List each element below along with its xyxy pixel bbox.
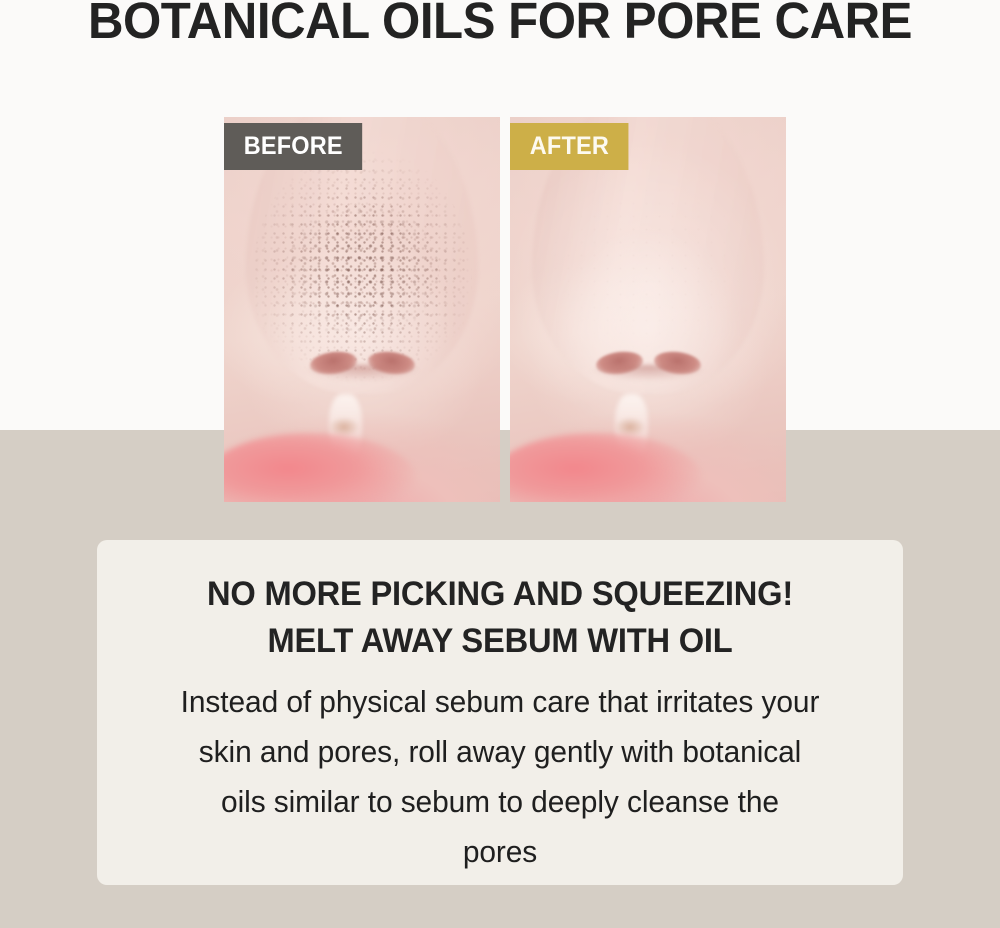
before-photo: BEFORE	[224, 117, 500, 502]
blackhead-texture-before	[285, 202, 440, 341]
before-after-comparison: BEFORE AFTER	[224, 117, 786, 502]
message-card: NO MORE PICKING AND SQUEEZING! MELT AWAY…	[97, 540, 903, 885]
card-body-text: Instead of physical sebum care that irri…	[111, 677, 889, 877]
nose-shadow-before	[301, 365, 422, 380]
nose-shadow-after	[587, 365, 708, 380]
card-headline-line-1: NO MORE PICKING AND SQUEEZING!	[113, 571, 887, 618]
card-headline-line-2: MELT AWAY SEBUM WITH OIL	[113, 618, 887, 665]
page-title: BOTANICAL OILS FOR PORE CARE	[18, 0, 983, 50]
promo-page: BOTANICAL OILS FOR PORE CARE BEFORE	[0, 0, 1000, 928]
badge-after: AFTER	[510, 123, 629, 170]
badge-before: BEFORE	[224, 123, 363, 170]
after-photo: AFTER	[510, 117, 786, 502]
